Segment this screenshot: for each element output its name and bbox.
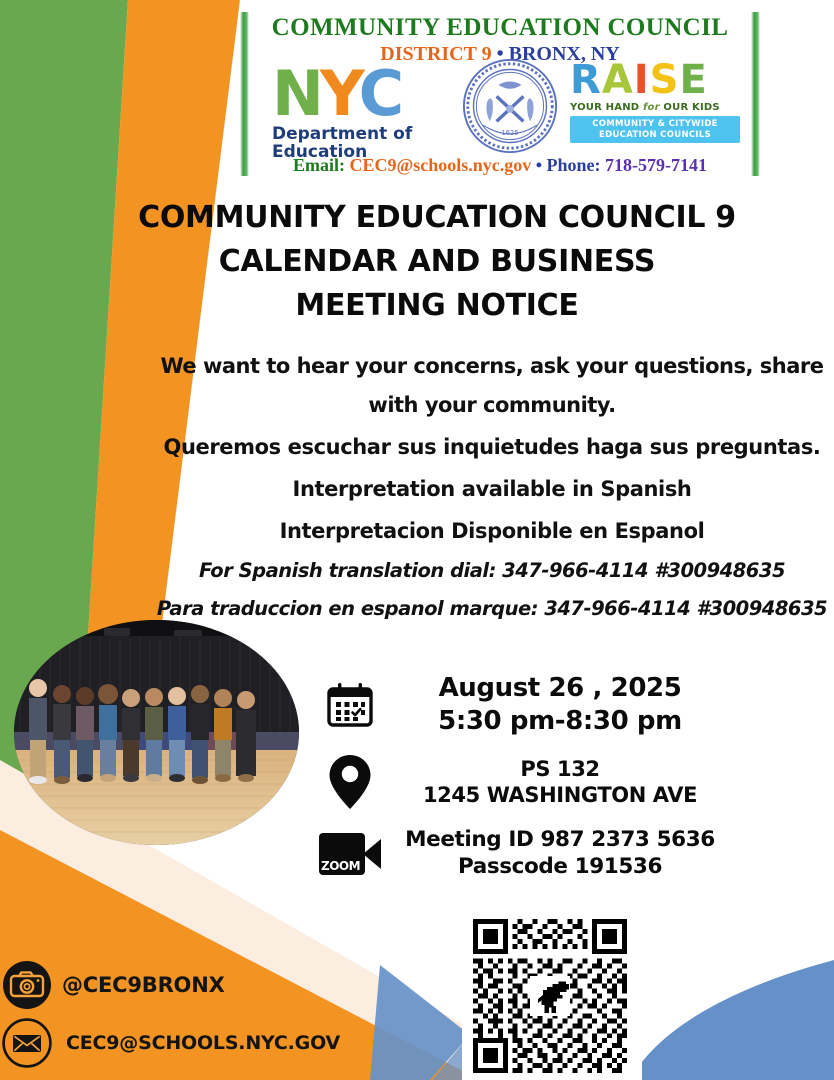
detail-row-date: August 26 , 2025 5:30 pm-8:30 pm [318,672,738,737]
nyc-letters: NYC [272,63,462,125]
detail-row-location: PS 132 1245 WASHINGTON AVE [318,753,738,811]
raise-tagline-post: OUR KIDS [663,102,719,113]
body-translation-es: Para traduccion en espanol marque: 347-9… [150,590,834,629]
qr-center-dinosaur-icon [530,976,570,1016]
header-logo-band: COMMUNITY EDUCATION COUNCIL DISTRICT 9 •… [240,8,760,180]
zoom-passcode: Passcode 191536 [382,854,738,881]
detail-icon-wrap-zoom: ZOOM [318,833,382,875]
event-time: 5:30 pm-8:30 pm [382,705,738,738]
event-venue: PS 132 [520,757,599,781]
body-text-block: We want to hear your concerns, ask your … [150,347,834,629]
raise-council-band: COMMUNITY & CITYWIDE EDUCATION COUNCILS [570,116,740,143]
instagram-handle: @CEC9BRONX [62,973,225,997]
detail-icon-wrap-date [318,681,382,729]
envelope-icon [2,1018,52,1068]
event-address: 1245 WASHINGTON AVE [382,782,738,808]
instagram-camera-icon [2,960,52,1010]
raise-tagline-pre: YOUR HAND [570,102,639,113]
body-translation-en: For Spanish translation dial: 347-966-41… [150,552,834,591]
nyc-letter-n: N [272,57,320,130]
raise-band-line2: EDUCATION COUNCILS [574,130,736,141]
detail-text-zoom: Meeting ID 987 2373 5636 Passcode 191536 [382,827,738,881]
header-council-title: COMMUNITY EDUCATION COUNCIL [240,14,760,42]
group-photo [14,620,299,845]
page-title: COMMUNITY EDUCATION COUNCIL 9 CALENDAR A… [60,196,814,328]
calendar-icon [326,681,374,729]
social-instagram[interactable]: @CEC9BRONX [2,960,225,1010]
zoom-meeting-id: Meeting ID 987 2373 5636 [405,827,715,852]
header-phone-label: Phone: [547,155,601,175]
body-interpretation-es: Interpretacion Disponible en Espanol [150,512,834,552]
zoom-icon-lens [363,839,381,869]
raise-letter-i: I [634,57,650,103]
body-interpretation-en: Interpretation available in Spanish [150,470,834,510]
detail-row-zoom: ZOOM Meeting ID 987 2373 5636 Passcode 1… [318,827,738,881]
detail-icon-wrap-location [318,753,382,811]
body-lead-en: We want to hear your concerns, ask your … [150,347,834,426]
header-phone-value[interactable]: 718-579-7141 [605,155,707,175]
zoom-video-icon: ZOOM [319,833,381,875]
nyc-doe-logo: NYC Department of Education [272,63,462,153]
nyc-letter-y: Y [320,57,359,130]
headline-line-3: MEETING NOTICE [60,284,814,328]
raise-band-line1: COMMUNITY & CITYWIDE [574,119,736,130]
event-details: August 26 , 2025 5:30 pm-8:30 pm PS 132 … [318,672,738,897]
nyc-letter-c: C [359,57,401,130]
header-email-value[interactable]: CEC9@schools.nyc.gov [349,155,531,175]
headline-line-1: COMMUNITY EDUCATION COUNCIL 9 [60,196,814,240]
raise-letter-r: R [570,57,602,103]
raise-letter-a: A [602,57,634,103]
raise-tagline-italic: for [643,102,660,113]
header-contact-separator: • [536,155,542,175]
blue-bottom-strip [620,1070,834,1080]
headline-line-2: CALENDAR AND BUSINESS [60,240,814,284]
detail-text-date: August 26 , 2025 5:30 pm-8:30 pm [382,672,738,737]
header-contact-line: Email: CEC9@schools.nyc.gov • Phone: 718… [240,155,760,176]
raise-logo: RAISE YOUR HAND for OUR KIDS COMMUNITY &… [570,60,740,152]
zoom-icon-label: ZOOM [321,859,360,873]
nyc-doe-line1: Department of [272,126,462,143]
raise-wordmark: RAISE [570,60,740,100]
event-date: August 26 , 2025 [439,673,682,703]
raise-letter-e: E [679,57,707,103]
email-address: CEC9@SCHOOLS.NYC.GOV [66,1032,340,1054]
flyer-page: COMMUNITY EDUCATION COUNCIL DISTRICT 9 •… [0,0,834,1080]
header-email-label: Email: [293,155,345,175]
detail-text-location: PS 132 1245 WASHINGTON AVE [382,756,738,809]
qr-code[interactable] [462,912,642,1080]
map-pin-icon [326,753,374,811]
nyc-city-seal-icon: ·1625· [462,58,558,154]
body-lead-es: Queremos escuchar sus inquietudes haga s… [150,428,834,468]
raise-tagline: YOUR HAND for OUR KIDS [570,102,740,113]
raise-letter-s: S [650,57,680,103]
social-email[interactable]: CEC9@SCHOOLS.NYC.GOV [2,1018,340,1068]
